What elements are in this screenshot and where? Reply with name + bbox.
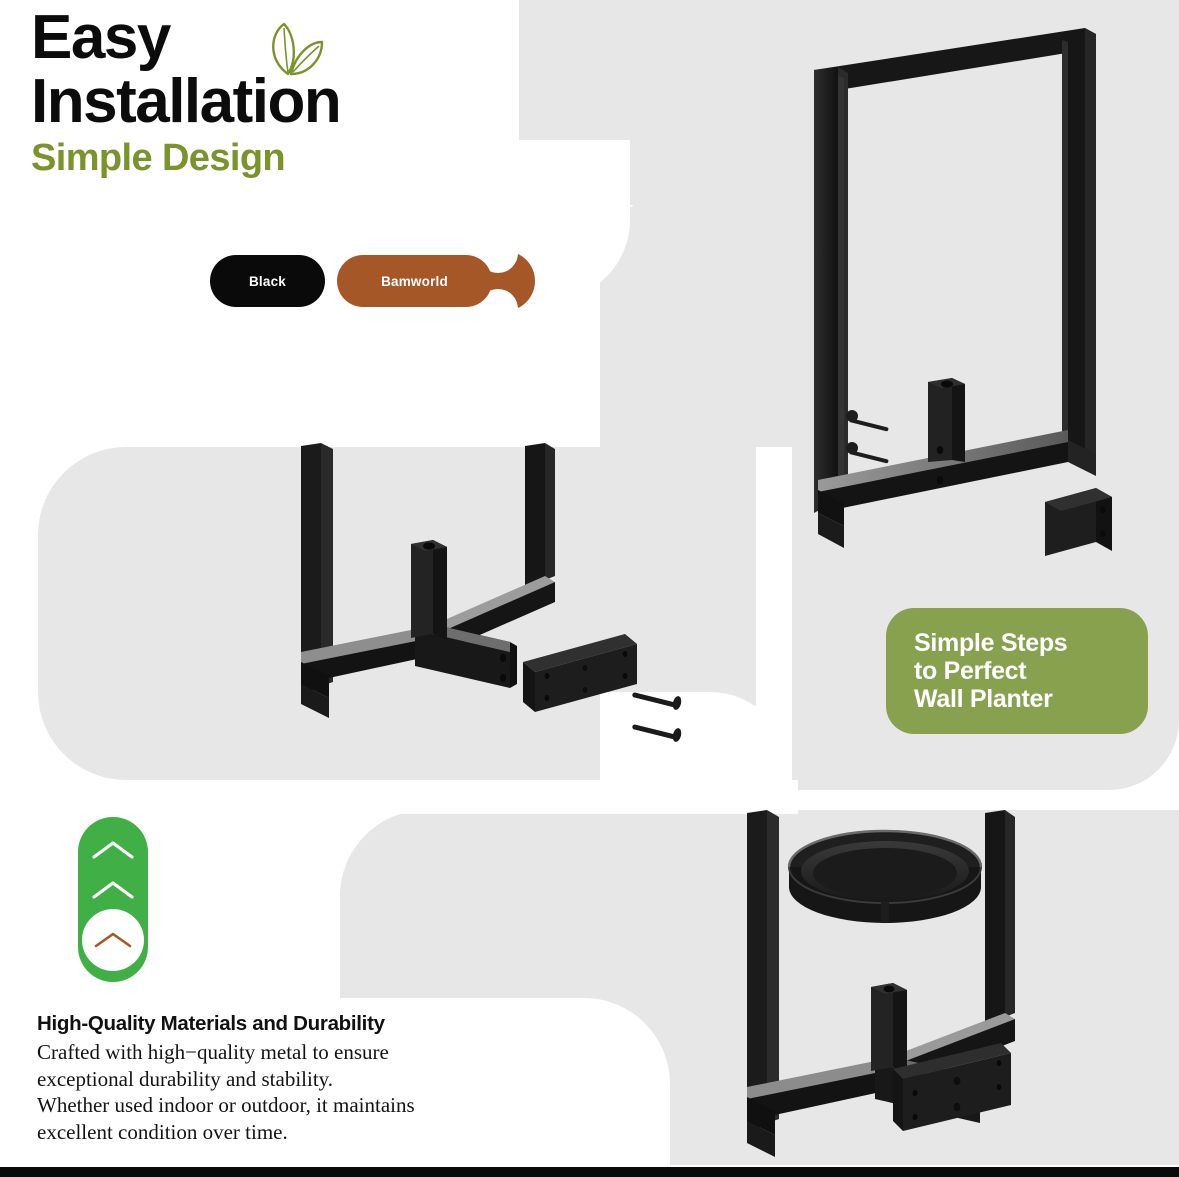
swatch-bamworld[interactable]: Bamworld: [337, 255, 492, 307]
product-infographic-page: Easy Installation Simple Design Black Ba…: [0, 0, 1179, 1177]
chevron-indicator-stack: [78, 817, 148, 982]
page-subtitle: Simple Design: [31, 139, 501, 179]
chevron-up-icon: [91, 839, 135, 861]
feature-text-block: High-Quality Materials and Durability Cr…: [37, 1012, 567, 1146]
planter-tray: [789, 831, 981, 923]
callout-box: Simple Steps to Perfect Wall Planter: [886, 608, 1148, 734]
screw-icon: [632, 724, 683, 743]
callout-line-1: Simple Steps: [914, 629, 1148, 657]
swatch-black[interactable]: Black: [210, 255, 325, 307]
chevron-up-icon: [93, 930, 133, 950]
leaf-icon: [258, 18, 328, 80]
callout-line-2: to Perfect: [914, 657, 1148, 685]
wall-planter-frame-illustration: [800, 10, 1160, 570]
feature-heading: High-Quality Materials and Durability: [37, 1012, 567, 1036]
feature-body-line: excellent condition over time.: [37, 1119, 567, 1146]
mounting-block: [1045, 488, 1112, 556]
screw-icon: [846, 410, 889, 432]
screw-icon: [846, 442, 889, 464]
bottom-divider-bar: [0, 1167, 1179, 1177]
assembled-planter-tray-illustration: [735, 805, 1179, 1165]
mounting-plate: [523, 634, 637, 712]
screw-icon: [632, 692, 683, 711]
feature-body-line: Whether used indoor or outdoor, it maint…: [37, 1092, 567, 1119]
u-bracket-assembly-illustration: [255, 440, 695, 770]
page-title-line-2: Installation: [31, 72, 501, 132]
chevron-highlight-circle: [82, 909, 144, 971]
chevron-up-icon: [91, 879, 135, 901]
callout-line-3: Wall Planter: [914, 685, 1148, 713]
feature-body-line: exceptional durability and stability.: [37, 1066, 567, 1093]
feature-body-line: Crafted with high−quality metal to ensur…: [37, 1039, 567, 1066]
